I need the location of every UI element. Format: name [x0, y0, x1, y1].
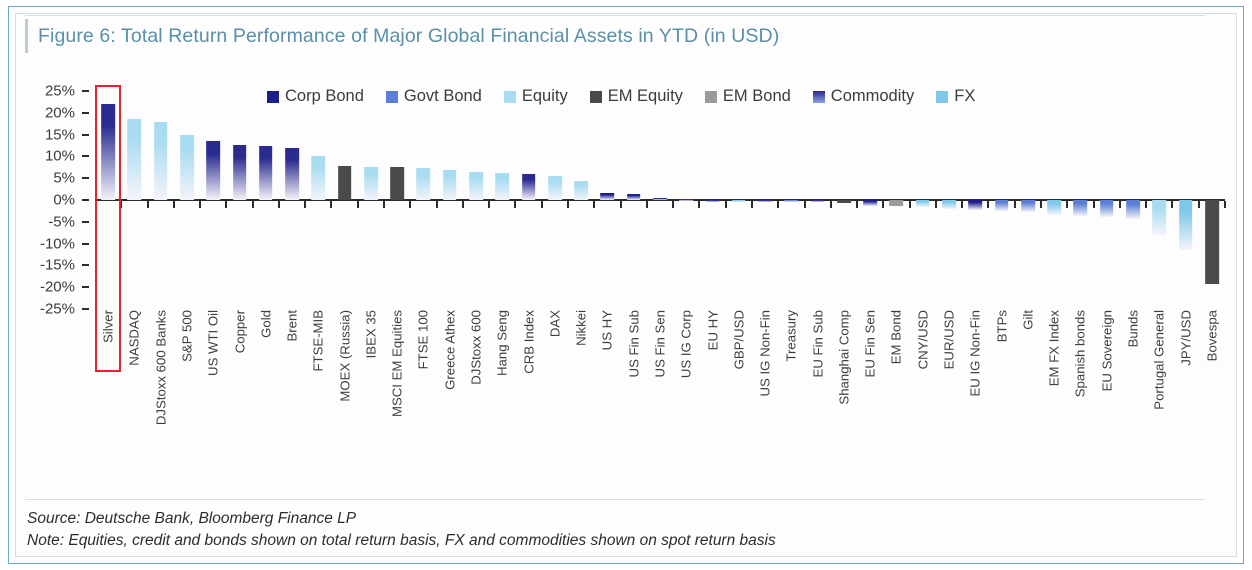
x-axis-tick-label: JPY/USD: [1178, 310, 1193, 366]
legend-label: Corp Bond: [285, 87, 364, 106]
chart-bar[interactable]: [1126, 200, 1140, 219]
chart-bar-column[interactable]: EU IG Non-Fin: [962, 73, 988, 313]
chart-bar-column[interactable]: Bovespa: [1199, 73, 1225, 313]
y-axis-tick-label: 25%: [45, 83, 75, 100]
chart-bar[interactable]: [128, 119, 142, 200]
chart-bar[interactable]: [1074, 200, 1088, 216]
chart-bar-column[interactable]: IBEX 35: [358, 73, 384, 313]
legend-item-fx[interactable]: FX: [936, 87, 975, 106]
x-axis-tick-label: US HY: [600, 310, 615, 350]
chart-bar[interactable]: [417, 168, 431, 200]
x-axis-tick-label: Treasury: [784, 310, 799, 362]
chart-bar[interactable]: [890, 200, 904, 206]
y-axis-tick-label: -15%: [40, 257, 75, 274]
chart-plot-area: Corp BondGovt BondEquityEM EquityEM Bond…: [27, 73, 1227, 493]
legend-label: EM Bond: [723, 87, 791, 106]
legend-label: FX: [954, 87, 975, 106]
y-axis-tick-label: 15%: [45, 126, 75, 143]
chart-bar[interactable]: [732, 200, 746, 202]
x-axis-tick-label: DAX: [547, 310, 562, 337]
chart-bar-column[interactable]: CRB Index: [515, 73, 541, 313]
x-axis-tick-label: IBEX 35: [363, 310, 378, 358]
chart-bar[interactable]: [574, 181, 588, 200]
legend-label: Commodity: [831, 87, 914, 106]
chart-bar-column[interactable]: Brent: [279, 73, 305, 313]
chart-bar-column[interactable]: Bunds: [1120, 73, 1146, 313]
chart-bar-column[interactable]: Spanish bonds: [1067, 73, 1093, 313]
chart-bar-column[interactable]: US WTI Oil: [200, 73, 226, 313]
chart-bar-column[interactable]: US IG Non-Fin: [752, 73, 778, 313]
y-axis-tick-mark: [82, 134, 89, 136]
chart-bar-column[interactable]: DJStoxx 600: [463, 73, 489, 313]
x-axis-tick-label: EU Sovereign: [1099, 310, 1114, 391]
x-axis-tick-label: US Fin Sen: [652, 310, 667, 377]
chart-bar-column[interactable]: Nikkei: [568, 73, 594, 313]
x-axis-tick-label: FTSE-MIB: [311, 310, 326, 372]
x-axis-tick-label: Copper: [232, 310, 247, 353]
x-axis-tick-label: EU Fin Sen: [863, 310, 878, 377]
chart-bar-column[interactable]: Greece Athex: [437, 73, 463, 313]
x-axis-tick-label: MSCI EM Equities: [390, 310, 405, 417]
x-axis-tick-label: BTPs: [994, 310, 1009, 342]
chart-bar-column[interactable]: US IG Corp: [673, 73, 699, 313]
legend-swatch-icon: [590, 91, 602, 103]
x-axis-tick-label: DJStoxx 600: [469, 310, 484, 385]
x-axis-tick-label: US WTI Oil: [206, 310, 221, 376]
x-axis-tick-label: EU HY: [705, 310, 720, 350]
x-axis-tick-label: Brent: [285, 310, 300, 342]
chart-bar-column[interactable]: CNY/USD: [910, 73, 936, 313]
y-axis-tick-label: -5%: [48, 213, 75, 230]
chart-bar[interactable]: [863, 200, 877, 206]
x-axis-tick-label: Portugal General: [1152, 310, 1167, 410]
legend-item-em-equity[interactable]: EM Equity: [590, 87, 683, 106]
legend-swatch-icon: [504, 91, 516, 103]
chart-bar-column[interactable]: Gilt: [1015, 73, 1041, 313]
chart-bar[interactable]: [285, 148, 299, 200]
x-axis-tick-label: CRB Index: [521, 310, 536, 374]
chart-bar[interactable]: [1047, 200, 1061, 215]
chart-bar-column[interactable]: US Fin Sub: [621, 73, 647, 313]
chart-bar[interactable]: [785, 200, 799, 202]
source-text: Source: Deutsche Bank, Bloomberg Finance…: [27, 510, 356, 528]
y-axis-tick-label: 5%: [53, 170, 75, 187]
chart-bar-column[interactable]: EM Bond: [883, 73, 909, 313]
y-axis-tick-label: 10%: [45, 148, 75, 165]
chart-bar[interactable]: [522, 174, 536, 200]
chart-bar-column[interactable]: BTPs: [988, 73, 1014, 313]
x-axis-tick-label: US Fin Sub: [626, 310, 641, 377]
chart-bar[interactable]: [469, 172, 483, 200]
y-axis-tick-mark: [82, 177, 89, 179]
x-axis-tick-label: Nikkei: [574, 310, 589, 346]
legend-swatch-icon: [705, 91, 717, 103]
chart-bar-column[interactable]: Silver: [95, 73, 121, 313]
y-axis-tick-mark: [82, 155, 89, 157]
figure-frame: Figure 6: Total Return Performance of Ma…: [8, 6, 1244, 564]
chart-bar[interactable]: [154, 122, 168, 200]
y-axis-tick-mark: [82, 308, 89, 310]
legend-swatch-icon: [267, 91, 279, 103]
chart-bar[interactable]: [653, 198, 667, 200]
legend-label: Govt Bond: [404, 87, 482, 106]
y-axis: 25%20%15%10%5%0%-5%-10%-15%-20%-25%: [27, 73, 89, 313]
chart-bar-column[interactable]: EU HY: [699, 73, 725, 313]
chart-bar-column[interactable]: Treasury: [778, 73, 804, 313]
chart-bar[interactable]: [338, 166, 352, 200]
chart-bar[interactable]: [837, 200, 851, 203]
x-axis-tick-label: EUR/USD: [942, 310, 957, 369]
chart-bar[interactable]: [548, 176, 562, 200]
x-axis-tick-label: EU IG Non-Fin: [968, 310, 983, 396]
legend-label: Equity: [522, 87, 568, 106]
chart-bar[interactable]: [233, 145, 247, 200]
chart-bar-column[interactable]: Portugal General: [1146, 73, 1172, 313]
chart-bar[interactable]: [259, 146, 273, 200]
legend-label: EM Equity: [608, 87, 683, 106]
chart-bar[interactable]: [758, 200, 772, 202]
chart-bar-column[interactable]: FTSE 100: [410, 73, 436, 313]
chart-bar[interactable]: [180, 135, 194, 200]
chart-bar[interactable]: [1100, 200, 1114, 217]
chart-bar[interactable]: [995, 200, 1009, 211]
chart-bar[interactable]: [101, 104, 115, 200]
chart-bar[interactable]: [1179, 200, 1193, 250]
legend-item-em-bond[interactable]: EM Bond: [705, 87, 791, 106]
x-axis-tick-mark: [1224, 201, 1226, 208]
chart-bar[interactable]: [601, 193, 615, 200]
chart-bar-column[interactable]: NASDAQ: [121, 73, 147, 313]
legend-swatch-icon: [813, 91, 825, 103]
y-axis-tick-label: -20%: [40, 279, 75, 296]
chart-bar-column[interactable]: DAX: [542, 73, 568, 313]
chart-bar[interactable]: [627, 194, 641, 200]
chart-bar[interactable]: [206, 141, 220, 200]
chart-bar[interactable]: [706, 200, 720, 202]
bars-container: SilverNASDAQDJStoxx 600 BanksS&P 500US W…: [95, 73, 1225, 313]
chart-legend: Corp BondGovt BondEquityEM EquityEM Bond…: [267, 87, 975, 106]
chart-bar-column[interactable]: Gold: [253, 73, 279, 313]
x-axis-tick-label: EM Bond: [889, 310, 904, 364]
x-axis-tick-label: GBP/USD: [731, 310, 746, 369]
x-axis-tick-label: Bunds: [1126, 310, 1141, 347]
x-axis-tick-label: Gilt: [1020, 310, 1035, 330]
chart-bar-column[interactable]: Hang Seng: [489, 73, 515, 313]
x-axis-tick-label: MOEX (Russia): [337, 310, 352, 402]
chart-bar-column[interactable]: US Fin Sen: [647, 73, 673, 313]
chart-bar-column[interactable]: FTSE-MIB: [305, 73, 331, 313]
chart-bar[interactable]: [1205, 200, 1219, 284]
chart-bar-column[interactable]: S&P 500: [174, 73, 200, 313]
chart-bar[interactable]: [811, 200, 825, 202]
chart-bar[interactable]: [1152, 200, 1166, 235]
x-axis-tick-label: EM FX Index: [1047, 310, 1062, 386]
chart-bar[interactable]: [390, 167, 404, 200]
x-axis-tick-label: US IG Corp: [679, 310, 694, 378]
chart-bar-column[interactable]: DJStoxx 600 Banks: [148, 73, 174, 313]
chart-bar[interactable]: [312, 156, 326, 200]
chart-bar-column[interactable]: EU Fin Sen: [857, 73, 883, 313]
y-axis-tick-mark: [82, 90, 89, 92]
x-axis-tick-label: FTSE 100: [416, 310, 431, 369]
chart-bar[interactable]: [679, 199, 693, 201]
chart-bar[interactable]: [969, 200, 983, 210]
chart-bar-column[interactable]: MSCI EM Equities: [384, 73, 410, 313]
y-axis-tick-mark: [82, 243, 89, 245]
y-axis-tick-mark: [82, 221, 89, 223]
legend-swatch-icon: [386, 91, 398, 103]
y-axis-tick-label: -25%: [40, 301, 75, 318]
y-axis-tick-label: -10%: [40, 235, 75, 252]
x-axis-tick-label: Bovespa: [1204, 310, 1219, 361]
legend-item-govt-bond[interactable]: Govt Bond: [386, 87, 482, 106]
chart-bar-column[interactable]: JPY/USD: [1172, 73, 1198, 313]
chart-bar[interactable]: [1021, 200, 1035, 212]
chart-bar-column[interactable]: EU Sovereign: [1094, 73, 1120, 313]
footer-divider: [25, 499, 1205, 500]
x-axis-tick-label: CNY/USD: [915, 310, 930, 369]
x-axis-tick-label: Gold: [258, 310, 273, 338]
y-axis-tick-label: 20%: [45, 104, 75, 121]
note-text: Note: Equities, credit and bonds shown o…: [27, 532, 776, 550]
x-axis-tick-label: Silver: [101, 310, 116, 343]
y-axis-tick-mark: [82, 264, 89, 266]
x-axis-tick-label: Shanghai Comp: [836, 310, 851, 405]
chart-bar[interactable]: [942, 200, 956, 209]
x-axis-tick-label: NASDAQ: [127, 310, 142, 366]
chart-bar-column[interactable]: Shanghai Comp: [831, 73, 857, 313]
chart-bar-column[interactable]: GBP/USD: [726, 73, 752, 313]
chart-bar[interactable]: [364, 167, 378, 200]
x-axis-tick-label: Spanish bonds: [1073, 310, 1088, 397]
x-axis-tick-label: DJStoxx 600 Banks: [153, 310, 168, 425]
legend-item-corp-bond[interactable]: Corp Bond: [267, 87, 364, 106]
legend-swatch-icon: [936, 91, 948, 103]
page-title: Figure 6: Total Return Performance of Ma…: [38, 25, 779, 48]
chart-bar[interactable]: [916, 200, 930, 207]
y-axis-tick-mark: [82, 199, 89, 201]
chart-bar-column[interactable]: EU Fin Sub: [805, 73, 831, 313]
chart-bar-column[interactable]: EUR/USD: [936, 73, 962, 313]
y-axis-tick-mark: [82, 112, 89, 114]
chart-bar[interactable]: [495, 173, 509, 200]
y-axis-tick-mark: [82, 286, 89, 288]
figure-title-bar: Figure 6: Total Return Performance of Ma…: [25, 19, 1205, 53]
chart-bar-column[interactable]: MOEX (Russia): [332, 73, 358, 313]
legend-item-equity[interactable]: Equity: [504, 87, 568, 106]
chart-bar-column[interactable]: Copper: [226, 73, 252, 313]
x-axis-tick-label: Hang Seng: [495, 310, 510, 376]
x-axis-tick-label: S&P 500: [179, 310, 194, 362]
x-axis-tick-label: US IG Non-Fin: [758, 310, 773, 396]
chart-bar[interactable]: [443, 170, 457, 200]
chart-bar-column[interactable]: EM FX Index: [1041, 73, 1067, 313]
chart-bar-column[interactable]: US HY: [594, 73, 620, 313]
x-axis-tick-label: Greece Athex: [442, 310, 457, 390]
title-divider: [25, 15, 1205, 16]
y-axis-tick-label: 0%: [53, 192, 75, 209]
x-axis-tick-label: EU Fin Sub: [810, 310, 825, 377]
legend-item-commodity[interactable]: Commodity: [813, 87, 914, 106]
